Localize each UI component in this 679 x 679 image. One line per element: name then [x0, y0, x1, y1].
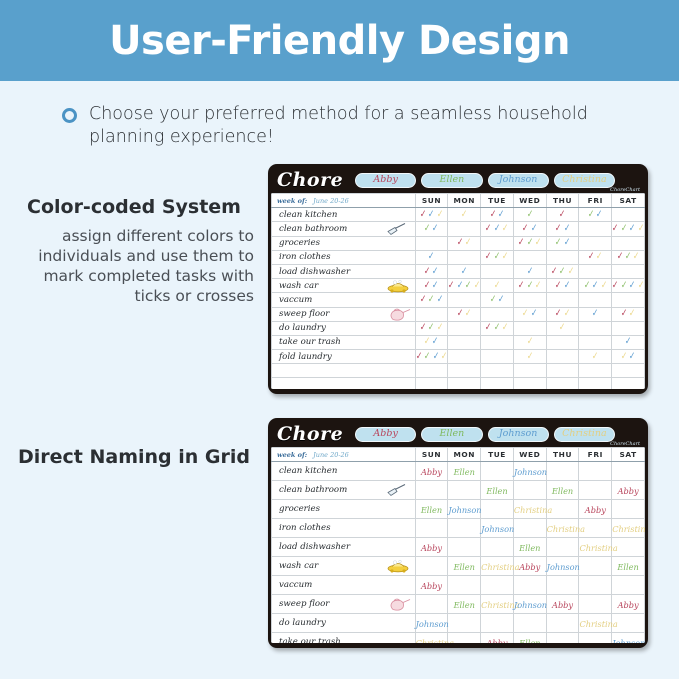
name-cell[interactable] [579, 633, 612, 643]
tick-cell[interactable]: ✓✓ [415, 222, 448, 236]
task-label-blank[interactable] [272, 378, 416, 389]
tick-cell[interactable]: ✓✓✓✓ [415, 350, 448, 364]
tick-cell[interactable] [546, 293, 579, 307]
tick-cell[interactable] [579, 335, 612, 349]
assignee-name: Abby [519, 562, 540, 572]
tick-group: ✓✓ [612, 308, 644, 321]
empty-cell[interactable] [415, 378, 448, 389]
empty-cell[interactable] [481, 364, 514, 378]
tick-group: ✓ [547, 208, 579, 221]
task-label: groceries [272, 236, 416, 250]
assignee-name: Abby [618, 486, 639, 496]
tick-cell[interactable]: ✓ [448, 208, 481, 222]
checkmark-icon: ✓ [493, 224, 500, 235]
empty-cell[interactable] [612, 378, 645, 389]
name-tab-list: Abby Ellen Johnson Christina [355, 173, 641, 188]
tick-cell[interactable]: ✓ [546, 208, 579, 222]
name-tab-christina[interactable]: Christina [554, 427, 615, 442]
tick-cell[interactable]: ✓ [513, 264, 546, 278]
tick-cell[interactable] [415, 236, 448, 250]
caption-body: assign different colors to individuals a… [0, 226, 268, 307]
grid-body: clean kitchenAbbyEllenJohnsonclean bathr… [272, 462, 645, 643]
chore-board-ticks: Chore Abby Ellen Johnson Christina Chore… [268, 164, 648, 394]
tick-cell[interactable] [612, 321, 645, 335]
name-cell[interactable]: Abby [513, 557, 546, 576]
tick-cell[interactable] [481, 236, 514, 250]
name-cell[interactable]: Abby [415, 576, 448, 595]
name-tab-ellen[interactable]: Ellen [421, 427, 482, 442]
name-cell[interactable] [612, 462, 645, 481]
tick-cell[interactable]: ✓✓ [579, 250, 612, 264]
empty-cell[interactable] [513, 364, 546, 378]
empty-cell[interactable] [546, 378, 579, 389]
tick-group: ✓✓ [514, 308, 546, 321]
name-tab-johnson[interactable]: Johnson [488, 427, 549, 442]
name-cell[interactable] [513, 481, 546, 500]
checkmark-icon: ✓ [419, 295, 426, 306]
name-cell[interactable]: Christina [546, 519, 579, 538]
empty-cell[interactable] [513, 378, 546, 389]
tick-cell[interactable]: ✓ [513, 350, 546, 364]
name-cell[interactable] [481, 462, 514, 481]
tick-cell[interactable]: ✓ [481, 279, 514, 293]
tick-cell[interactable]: ✓✓✓✓ [448, 279, 481, 293]
task-label: groceries [272, 500, 416, 519]
name-cell[interactable] [612, 576, 645, 595]
empty-cell[interactable] [415, 364, 448, 378]
name-cell[interactable] [415, 481, 448, 500]
tick-cell[interactable]: ✓✓ [579, 208, 612, 222]
tick-group: ✓✓ [579, 251, 611, 264]
name-cell[interactable]: Christina [612, 519, 645, 538]
name-cell[interactable] [546, 576, 579, 595]
assignee-name: Abby [618, 600, 639, 610]
tick-cell[interactable]: ✓✓✓ [612, 250, 645, 264]
checkmark-icon: ✓ [526, 238, 533, 249]
checkmark-icon: ✓ [596, 252, 603, 263]
name-cell[interactable]: Ellen [513, 538, 546, 557]
name-cell[interactable] [546, 614, 579, 633]
assignee-name: Abby [487, 638, 508, 643]
name-tab-label: Johnson [499, 429, 537, 439]
checkmark-icon: ✓ [448, 280, 455, 291]
assignee-name: Johnson [416, 619, 449, 629]
table-row: take our trash✓✓✓✓ [272, 335, 645, 349]
checkmark-icon: ✓ [555, 224, 562, 235]
tick-cell[interactable] [513, 293, 546, 307]
tick-cell[interactable]: ✓ [415, 250, 448, 264]
tick-cell[interactable] [448, 335, 481, 349]
tick-cell[interactable]: ✓ [579, 350, 612, 364]
tick-cell[interactable] [481, 264, 514, 278]
name-cell[interactable]: Johnson [513, 462, 546, 481]
checkmark-icon: ✓ [432, 280, 439, 291]
name-cell[interactable] [448, 633, 481, 643]
checkmark-icon: ✓ [600, 280, 607, 291]
checkmark-icon: ✓ [415, 351, 422, 362]
assignee-name: Ellen [552, 486, 573, 496]
tick-cell[interactable] [546, 350, 579, 364]
name-cell[interactable] [448, 614, 481, 633]
tick-cell[interactable] [448, 321, 481, 335]
checkmark-icon: ✓ [502, 252, 509, 263]
checkmark-icon: ✓ [616, 252, 623, 263]
tick-group: ✓ [579, 350, 611, 363]
task-label: sweep floor [272, 595, 416, 614]
tick-cell[interactable]: ✓✓ [612, 307, 645, 321]
checkmark-icon: ✓ [428, 295, 435, 306]
name-cell[interactable]: Abby [612, 481, 645, 500]
tick-cell[interactable] [579, 321, 612, 335]
assignee-name: Abby [421, 543, 442, 553]
day-header-sun: SUN [415, 194, 448, 208]
tick-cell[interactable] [612, 293, 645, 307]
checkmark-icon: ✓ [493, 323, 500, 334]
tick-cell[interactable]: ✓ [546, 321, 579, 335]
name-cell[interactable] [481, 538, 514, 557]
table-row: fold laundry✓✓✓✓✓✓✓✓ [272, 350, 645, 364]
tick-group: ✓✓ [514, 222, 546, 235]
name-cell[interactable]: Christina [481, 557, 514, 576]
checkmark-icon: ✓ [637, 280, 644, 291]
board-logo: Chore [277, 423, 355, 445]
day-header-wed: WED [513, 194, 546, 208]
table-row: sweep floor✓✓✓✓✓✓✓✓✓ [272, 307, 645, 321]
tick-cell[interactable]: ✓✓ [415, 279, 448, 293]
tick-cell[interactable]: ✓ [579, 307, 612, 321]
name-cell[interactable] [481, 500, 514, 519]
name-cell[interactable] [481, 576, 514, 595]
name-cell[interactable] [448, 538, 481, 557]
tick-cell[interactable] [579, 264, 612, 278]
checkmark-icon: ✓ [551, 266, 558, 277]
table-row: clean bathroomEllenEllenAbby [272, 481, 645, 500]
name-cell[interactable] [579, 595, 612, 614]
checkmark-icon: ✓ [535, 238, 542, 249]
week-of-header: week of:June 20-26 [272, 448, 416, 462]
tick-group: ✓✓ [612, 350, 644, 363]
name-cell[interactable] [546, 633, 579, 643]
tick-cell[interactable]: ✓✓ [415, 264, 448, 278]
tick-cell[interactable] [448, 293, 481, 307]
tick-cell[interactable]: ✓✓ [448, 236, 481, 250]
name-cell[interactable] [513, 614, 546, 633]
tick-cell[interactable] [415, 307, 448, 321]
checkmark-icon: ✓ [432, 266, 439, 277]
tick-cell[interactable] [579, 222, 612, 236]
name-cell[interactable] [481, 614, 514, 633]
empty-cell[interactable] [579, 378, 612, 389]
tick-cell[interactable] [612, 208, 645, 222]
task-label: wash car [272, 557, 416, 576]
name-cell[interactable]: Ellen [481, 481, 514, 500]
week-of-header: week of:June 20-26 [272, 194, 416, 208]
name-cell[interactable] [448, 519, 481, 538]
tick-group: ✓✓✓✓ [612, 222, 644, 235]
checkmark-icon: ✓ [535, 280, 542, 291]
checkmark-icon: ✓ [518, 238, 525, 249]
name-cell[interactable]: Johnson [448, 500, 481, 519]
name-cell[interactable] [612, 500, 645, 519]
checkmark-icon: ✓ [592, 351, 599, 362]
tick-cell[interactable]: ✓✓✓ [579, 279, 612, 293]
tick-group: ✓✓✓✓ [416, 350, 448, 363]
checkmark-icon: ✓ [432, 224, 439, 235]
name-cell[interactable] [448, 576, 481, 595]
tick-cell[interactable]: ✓✓ [546, 236, 579, 250]
checkmark-icon: ✓ [424, 266, 431, 277]
name-tab-label: Ellen [439, 175, 464, 185]
name-tab-label: Johnson [499, 175, 537, 185]
tick-group: ✓✓✓✓ [612, 279, 644, 292]
brand-mark: ChoreChart [610, 187, 640, 193]
table-row: clean bathroom✓✓✓✓✓✓✓✓✓✓✓✓✓ [272, 222, 645, 236]
tick-cell[interactable] [612, 264, 645, 278]
checkmark-icon: ✓ [624, 337, 631, 348]
tick-cell[interactable] [481, 350, 514, 364]
checkmark-icon: ✓ [456, 238, 463, 249]
assignee-name: Ellen [486, 486, 507, 496]
checkmark-icon: ✓ [612, 280, 619, 291]
name-cell[interactable]: Abby [546, 595, 579, 614]
tick-cell[interactable] [513, 250, 546, 264]
tick-cell[interactable]: ✓ [448, 264, 481, 278]
name-cell[interactable]: Ellen [513, 633, 546, 643]
day-header-sun: SUN [415, 448, 448, 462]
checkmark-icon: ✓ [498, 210, 505, 221]
name-cell[interactable]: Christina [579, 614, 612, 633]
tick-cell[interactable]: ✓✓✓✓ [612, 222, 645, 236]
assignee-name: Ellen [617, 562, 638, 572]
name-cell[interactable] [415, 595, 448, 614]
tick-group: ✓✓✓ [481, 222, 513, 235]
tick-group: ✓ [481, 279, 513, 292]
tick-cell[interactable]: ✓✓✓ [415, 208, 448, 222]
tick-cell[interactable] [546, 335, 579, 349]
name-cell[interactable]: Johnson [612, 633, 645, 643]
tick-group: ✓✓✓ [481, 322, 513, 335]
table-row-blank [272, 364, 645, 378]
tick-cell[interactable]: ✓✓ [448, 307, 481, 321]
name-cell[interactable] [448, 481, 481, 500]
day-header-sat: SAT [612, 448, 645, 462]
tick-cell[interactable] [513, 321, 546, 335]
name-cell[interactable] [579, 462, 612, 481]
tick-cell[interactable] [481, 335, 514, 349]
name-cell[interactable]: Ellen [546, 481, 579, 500]
tick-cell[interactable]: ✓✓✓ [513, 279, 546, 293]
board-grid-area: week of:June 20-26 SUNMONTUEWEDTHUFRISAT… [271, 193, 645, 389]
checkmark-icon: ✓ [620, 280, 627, 291]
checkmark-icon: ✓ [428, 323, 435, 334]
checkmark-icon: ✓ [424, 224, 431, 235]
tick-cell[interactable]: ✓✓ [513, 307, 546, 321]
tick-cell[interactable]: ✓✓ [546, 307, 579, 321]
checkmark-icon: ✓ [612, 224, 619, 235]
name-cell[interactable]: Ellen [612, 557, 645, 576]
assignee-name: Ellen [454, 600, 475, 610]
tick-cell[interactable]: ✓✓ [481, 208, 514, 222]
name-cell[interactable] [579, 481, 612, 500]
tick-cell[interactable] [448, 222, 481, 236]
checkmark-icon: ✓ [424, 337, 431, 348]
table-row: clean kitchenAbbyEllenJohnson [272, 462, 645, 481]
week-of-value: June 20-26 [313, 451, 349, 459]
name-cell[interactable]: Christina [579, 538, 612, 557]
checkmark-icon: ✓ [583, 280, 590, 291]
name-cell[interactable]: Abby [415, 538, 448, 557]
name-tab-christina[interactable]: Christina [554, 173, 615, 188]
checkmark-icon: ✓ [518, 280, 525, 291]
table-row: load dishwasher✓✓✓✓✓✓✓ [272, 264, 645, 278]
tick-cell[interactable]: ✓✓ [481, 293, 514, 307]
checkmark-icon: ✓ [465, 309, 472, 320]
task-label: clean kitchen [272, 208, 416, 222]
tick-cell[interactable] [448, 350, 481, 364]
tick-cell[interactable]: ✓✓✓✓ [612, 279, 645, 293]
name-cell[interactable] [415, 557, 448, 576]
name-cell[interactable] [579, 557, 612, 576]
name-cell[interactable]: Ellen [415, 500, 448, 519]
name-tab-abby[interactable]: Abby [355, 173, 416, 188]
tick-cell[interactable]: ✓ [513, 335, 546, 349]
name-cell[interactable] [513, 576, 546, 595]
tick-cell[interactable]: ✓✓ [612, 350, 645, 364]
tick-cell[interactable] [612, 236, 645, 250]
name-tab-list: Abby Ellen Johnson Christina [355, 427, 641, 442]
name-cell[interactable]: Christina [415, 633, 448, 643]
name-tab-ellen[interactable]: Ellen [421, 173, 482, 188]
task-label-blank[interactable] [272, 364, 416, 378]
name-cell[interactable]: Abby [612, 595, 645, 614]
task-label: load dishwasher [272, 264, 416, 278]
name-cell[interactable]: Ellen [448, 595, 481, 614]
name-cell[interactable]: Johnson [513, 595, 546, 614]
tick-cell[interactable]: ✓✓✓ [546, 264, 579, 278]
checkmark-icon: ✓ [555, 280, 562, 291]
tick-cell[interactable]: ✓✓✓ [481, 321, 514, 335]
checkmark-icon: ✓ [526, 266, 533, 277]
name-cell[interactable] [513, 519, 546, 538]
empty-cell[interactable] [612, 364, 645, 378]
tick-group: ✓ [514, 350, 546, 363]
name-cell[interactable] [415, 519, 448, 538]
empty-cell[interactable] [546, 364, 579, 378]
name-cell[interactable] [579, 576, 612, 595]
name-tab-abby[interactable]: Abby [355, 427, 416, 442]
page-title: User-Friendly Design [109, 18, 570, 64]
name-cell[interactable] [546, 500, 579, 519]
tick-cell[interactable]: ✓✓✓ [415, 321, 448, 335]
checkmark-icon: ✓ [502, 323, 509, 334]
name-cell[interactable]: Abby [579, 500, 612, 519]
checkmark-icon: ✓ [559, 266, 566, 277]
tick-cell[interactable]: ✓✓ [546, 222, 579, 236]
name-tab-johnson[interactable]: Johnson [488, 173, 549, 188]
checkmark-icon: ✓ [620, 351, 627, 362]
name-cell[interactable]: Abby [481, 633, 514, 643]
assignee-name: Johnson [514, 600, 547, 610]
name-cell[interactable]: Johnson [546, 557, 579, 576]
tick-cell[interactable] [579, 236, 612, 250]
checkmark-icon: ✓ [629, 280, 636, 291]
tick-cell[interactable]: ✓✓✓ [481, 222, 514, 236]
assignee-name: Ellen [519, 638, 540, 643]
name-cell[interactable] [612, 538, 645, 557]
name-cell[interactable]: Johnson [481, 519, 514, 538]
tick-group: ✓✓ [416, 265, 448, 278]
tick-group: ✓✓✓ [547, 265, 579, 278]
name-cell[interactable] [546, 462, 579, 481]
name-cell[interactable] [579, 519, 612, 538]
empty-cell[interactable] [481, 378, 514, 389]
tick-group: ✓✓✓✓ [448, 279, 480, 292]
tick-cell[interactable]: ✓✓✓ [481, 250, 514, 264]
checkmark-icon: ✓ [498, 295, 505, 306]
tick-cell[interactable] [481, 307, 514, 321]
tick-group: ✓✓ [416, 336, 448, 349]
grid-header-row: week of:June 20-26 SUNMONTUEWEDTHUFRISAT [272, 194, 645, 208]
name-cell[interactable]: Christina [481, 595, 514, 614]
tick-cell[interactable]: ✓✓✓ [415, 293, 448, 307]
empty-cell[interactable] [448, 364, 481, 378]
tick-cell[interactable]: ✓ [513, 208, 546, 222]
checkmark-icon: ✓ [522, 224, 529, 235]
caption-title: Direct Naming in Grid [0, 446, 268, 468]
checkmark-icon: ✓ [456, 309, 463, 320]
checkmark-icon: ✓ [559, 210, 566, 221]
tick-cell[interactable]: ✓✓ [546, 279, 579, 293]
table-row: groceries✓✓✓✓✓✓✓ [272, 236, 645, 250]
tick-group: ✓ [514, 336, 546, 349]
table-row: take our trashChristinaAbbyEllenJohnson [272, 633, 645, 643]
checkmark-icon: ✓ [629, 224, 636, 235]
tick-cell[interactable]: ✓✓ [513, 222, 546, 236]
task-label: wash car [272, 279, 416, 293]
checkmark-icon: ✓ [629, 309, 636, 320]
name-cell[interactable]: Johnson [415, 614, 448, 633]
table-row: vaccumAbby [272, 576, 645, 595]
tick-cell[interactable]: ✓✓ [415, 335, 448, 349]
table-row: wash car✓✓✓✓✓✓✓✓✓✓✓✓✓✓✓✓✓✓✓ [272, 279, 645, 293]
empty-cell[interactable] [579, 364, 612, 378]
name-cell[interactable] [546, 538, 579, 557]
empty-cell[interactable] [448, 378, 481, 389]
week-of-label: week of: [277, 197, 307, 205]
tick-cell[interactable]: ✓✓✓ [513, 236, 546, 250]
checkmark-icon: ✓ [424, 280, 431, 291]
checkmark-icon: ✓ [436, 323, 443, 334]
tick-group: ✓✓ [481, 208, 513, 221]
tick-cell[interactable] [448, 250, 481, 264]
name-cell[interactable]: Abby [415, 462, 448, 481]
checkmark-icon: ✓ [485, 323, 492, 334]
name-cell[interactable]: Ellen [448, 557, 481, 576]
day-header-mon: MON [448, 448, 481, 462]
name-cell[interactable]: Ellen [448, 462, 481, 481]
name-tab-label: Christina [562, 429, 606, 439]
assignee-name: Johnson [448, 505, 481, 515]
tick-cell[interactable] [579, 293, 612, 307]
tick-cell[interactable] [546, 250, 579, 264]
name-cell[interactable]: Christina [513, 500, 546, 519]
name-cell[interactable] [612, 614, 645, 633]
checkmark-icon: ✓ [461, 210, 468, 221]
assignee-name: Johnson [612, 638, 645, 643]
task-label: vaccum [272, 293, 416, 307]
checkmark-icon: ✓ [563, 224, 570, 235]
tick-cell[interactable]: ✓ [612, 335, 645, 349]
